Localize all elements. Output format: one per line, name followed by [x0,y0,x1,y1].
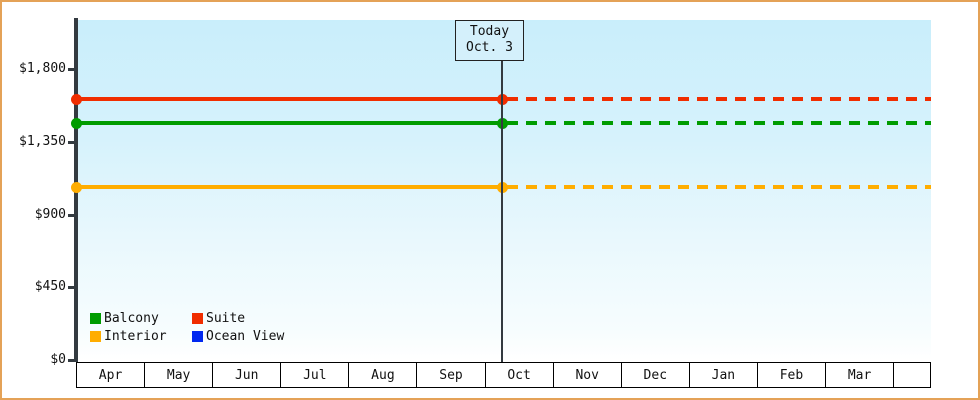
y-axis-tick [68,286,76,289]
y-axis-tick-label-wrap: $1,350 [2,135,66,148]
y-axis-tick [68,214,76,217]
legend-label: Suite [206,312,245,325]
x-axis-label: Jun [235,368,258,383]
legend-item-suite[interactable]: Suite [192,312,284,325]
x-axis-cell-aug[interactable]: Aug [349,363,417,387]
legend-swatch-icon [90,313,101,324]
legend-label: Interior [104,330,167,343]
x-axis-cell-apr[interactable]: Apr [77,363,145,387]
x-axis-cell-jan[interactable]: Jan [690,363,758,387]
series-line-dashed [507,185,931,189]
x-axis-label: Oct [507,368,530,383]
y-axis-tick-label: $450 [35,280,66,293]
x-axis-label: Nov [575,368,598,383]
y-axis-tick [68,359,76,362]
x-axis-label: Aug [371,368,394,383]
x-axis-cell-sep[interactable]: Sep [417,363,485,387]
series-line-solid [76,185,503,189]
legend-item-balcony[interactable]: Balcony [90,312,190,325]
legend-label: Balcony [104,312,159,325]
x-axis-cell-feb[interactable]: Feb [758,363,826,387]
x-axis-label: Apr [99,368,122,383]
y-axis-tick-label: $1,800 [19,62,66,75]
series-point-marker[interactable] [71,118,82,129]
legend-item-ocean-view[interactable]: Ocean View [192,330,284,343]
series-line-solid [76,121,503,125]
x-axis-cell-jul[interactable]: Jul [281,363,349,387]
today-vertical-line [501,20,503,362]
legend-swatch-icon [192,331,203,342]
legend-label: Ocean View [206,330,284,343]
y-axis-tick-label: $0 [50,353,66,366]
x-axis-label: May [167,368,190,383]
today-label-line2: Oct. 3 [466,40,513,56]
chart-frame: $0$450$900$1,350$1,800 Today Oct. 3 Balc… [0,0,980,400]
today-label-line1: Today [466,24,513,40]
series-point-marker[interactable] [71,94,82,105]
y-axis-tick [68,141,76,144]
x-axis-cell-empty[interactable] [894,363,930,387]
today-annotation-box: Today Oct. 3 [455,20,524,61]
x-axis-label: Feb [780,368,803,383]
y-axis-tick-label-wrap: $450 [2,280,66,293]
y-axis-tick-label-wrap: $0 [2,353,66,366]
series-line-solid [76,97,503,101]
y-axis-tick [68,68,76,71]
x-axis-cell-jun[interactable]: Jun [213,363,281,387]
series-point-marker[interactable] [71,182,82,193]
x-axis-cell-dec[interactable]: Dec [622,363,690,387]
series-line-dashed [507,97,931,101]
x-axis-table: AprMayJunJulAugSepOctNovDecJanFebMar [76,362,931,388]
x-axis-cell-may[interactable]: May [145,363,213,387]
x-axis-cell-nov[interactable]: Nov [554,363,622,387]
x-axis-label: Sep [439,368,462,383]
y-axis-tick-label-wrap: $1,800 [2,62,66,75]
legend-swatch-icon [90,331,101,342]
x-axis-label: Dec [644,368,667,383]
legend-item-interior[interactable]: Interior [90,330,190,343]
series-line-dashed [507,121,931,125]
y-axis-tick-label: $900 [35,208,66,221]
x-axis-cell-oct[interactable]: Oct [486,363,554,387]
chart-legend: BalconySuiteInteriorOcean View [90,312,284,343]
y-axis-tick-label: $1,350 [19,135,66,148]
x-axis-label: Mar [848,368,871,383]
x-axis-label: Jul [303,368,326,383]
legend-swatch-icon [192,313,203,324]
y-axis-tick-label-wrap: $900 [2,208,66,221]
x-axis-label: Jan [712,368,735,383]
x-axis-cell-mar[interactable]: Mar [826,363,894,387]
